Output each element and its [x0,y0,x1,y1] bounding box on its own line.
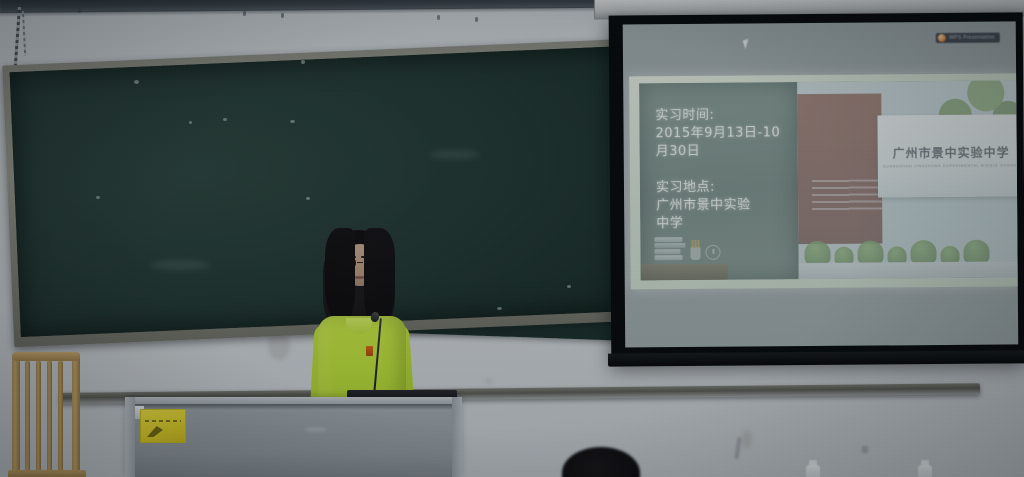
hair-strand-left [325,228,355,324]
water-bottle [918,465,932,477]
wall-streak [862,446,868,453]
chalk-speck [189,121,192,124]
slide-date-line-2: 月30日 [656,142,790,161]
projection-screen[interactable]: WPS Presentation 实习时间: 2015年9月13日-10 月30… [609,12,1024,363]
chair-slat [25,361,30,477]
podium-scuff [305,427,327,432]
wall-screw [437,15,440,20]
book-item [654,249,680,254]
chair-top-rail [12,352,80,361]
chalk-speck [567,285,571,288]
wall-mark [742,430,752,448]
projection-washout [797,80,1017,279]
wall-screw [475,17,478,22]
book-stack-icon [654,237,685,260]
slide-body: 实习时间: 2015年9月13日-10 月30日 实习地点: 广州市景中实验 中… [639,80,1018,280]
slide-heading-internship-time: 实习时间: [655,106,789,125]
slide-frame: 实习时间: 2015年9月13日-10 月30日 实习地点: 广州市景中实验 中… [629,73,1018,289]
clock-icon [705,245,720,260]
app-logo-icon [938,34,946,42]
slide-desk-graphic [641,264,728,281]
chalk-speck [306,197,310,200]
chalk-speck [134,80,139,84]
mouth [355,276,364,279]
chalk-smudge [430,150,480,159]
slide-text-panel: 实习时间: 2015年9月13日-10 月30日 实习地点: 广州市景中实验 中… [639,82,799,280]
slide-decoration-props [654,237,720,261]
pencil-cup-icon [690,247,700,260]
slide-place-line-1: 广州市景中实验 [656,196,790,215]
slide-heading-internship-place: 实习地点: [656,178,790,197]
presentation-app-badge: WPS Presentation [936,33,1000,43]
wall-mark [486,378,492,384]
slide-photo-panel: 广州市景中实验中学 GUANGZHOU JINGZHONG EXPERIMENT… [797,80,1017,279]
chair-slat [58,361,63,477]
lapel-badge [366,346,373,356]
podium-edge-right [452,397,462,477]
glasses-bridge [357,262,363,263]
slide-place-line-2: 中学 [656,214,790,233]
slide-date-line-1: 2015年9月13日-10 [656,124,790,143]
slide-block-place: 实习地点: 广州市景中实验 中学 [656,178,791,233]
chalk-smudge [150,260,210,270]
slide-block-time: 实习时间: 2015年9月13日-10 月30日 [655,106,790,161]
podium-edge-left [125,397,135,477]
warning-sticker [140,409,186,443]
wooden-chair [8,352,84,477]
slide-text-block: 实习时间: 2015年9月13日-10 月30日 实习地点: 广州市景中实验 中… [655,106,790,233]
chalk-speck [290,120,295,123]
wall-screw [281,13,284,18]
chair-slat [36,361,41,477]
chalk-speck [96,196,100,199]
chalk-speck [301,60,305,64]
chair-slat [47,361,52,477]
chair-post-right [72,352,80,477]
mouse-pointer-icon [743,39,752,49]
book-item [654,243,685,248]
water-bottle [806,465,820,477]
wall-screw [78,8,81,13]
chalk-speck [497,307,502,310]
wall-screw [243,11,246,16]
projected-image: WPS Presentation 实习时间: 2015年9月13日-10 月30… [623,21,1019,347]
chair-seat [8,470,86,477]
book-item [655,255,683,260]
photo-scene: WPS Presentation 实习时间: 2015年9月13日-10 月30… [0,0,1024,477]
chair-post-left [12,352,20,477]
presentation-app-name: WPS Presentation [949,35,995,41]
hair-strand-right [364,228,395,328]
chalk-speck [223,118,227,121]
book-item [654,237,682,242]
podium [125,397,462,477]
